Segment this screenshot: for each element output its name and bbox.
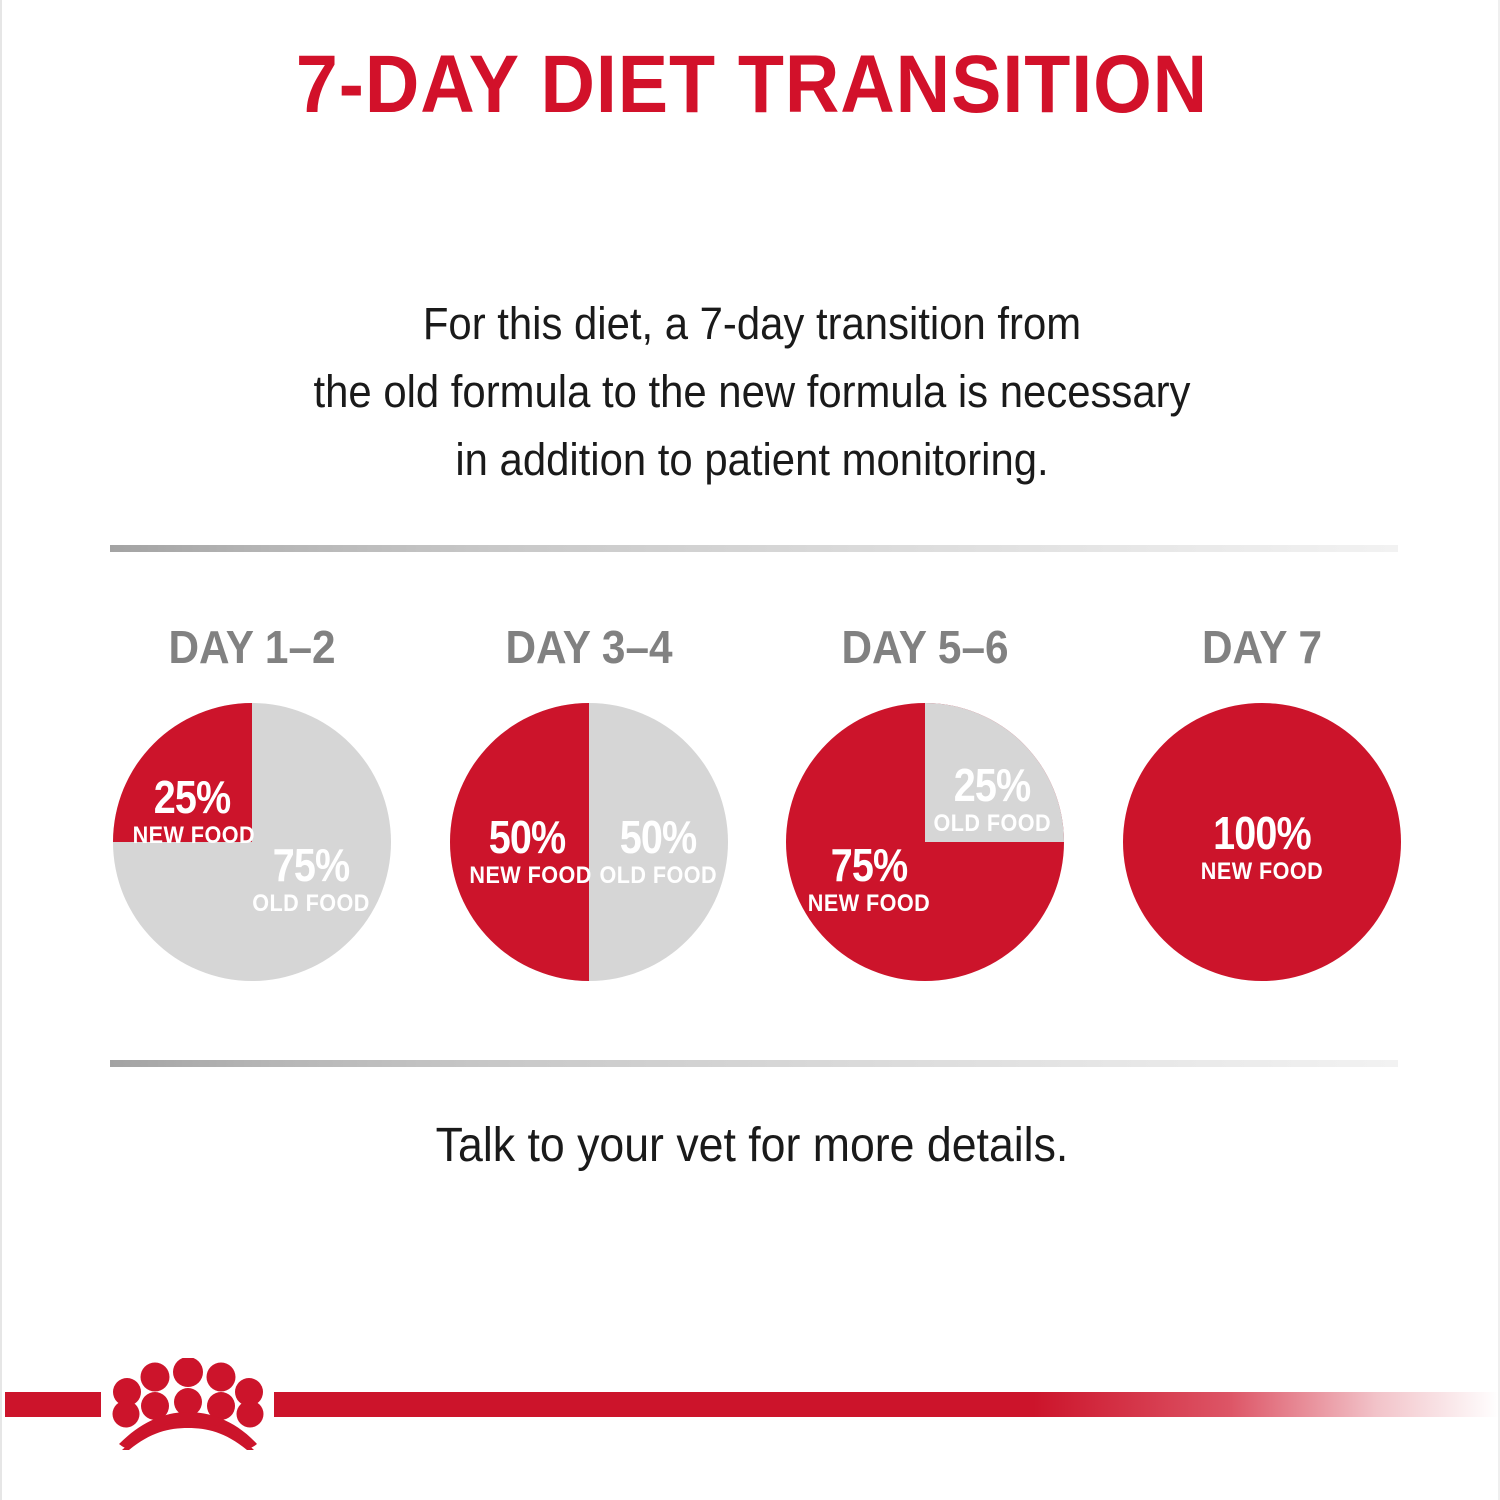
chart-cell-day-3-4: DAY 3–4 50% NEW FOOD 50% OLD FOOD bbox=[439, 620, 739, 982]
day-label-1: DAY 1–2 bbox=[114, 620, 390, 680]
pie-svg-1 bbox=[112, 702, 392, 982]
royal-canin-crown-logo bbox=[105, 1358, 271, 1450]
pie-svg-2 bbox=[449, 702, 729, 982]
intro-line-2: the old formula to the new formula is ne… bbox=[194, 358, 1310, 426]
pie-slice-new-food bbox=[450, 703, 589, 981]
cta-text: Talk to your vet for more details. bbox=[55, 1118, 1450, 1173]
pie-slice-old-food bbox=[925, 703, 1064, 842]
day-label-3: DAY 5–6 bbox=[787, 620, 1063, 680]
page-title: 7-DAY DIET TRANSITION bbox=[62, 38, 1442, 132]
day-label-4: DAY 7 bbox=[1124, 620, 1400, 680]
intro-line-1: For this diet, a 7-day transition from bbox=[194, 290, 1310, 358]
brand-bar-left-segment bbox=[5, 1392, 101, 1417]
pie-slice-new-food bbox=[1123, 703, 1401, 981]
intro-paragraph: For this diet, a 7-day transition from t… bbox=[194, 290, 1310, 494]
divider-bottom bbox=[110, 1060, 1398, 1067]
pie-chart-day-3-4: 50% NEW FOOD 50% OLD FOOD bbox=[449, 702, 729, 982]
chart-cell-day-5-6: DAY 5–6 75% NEW FOOD 25% OLD FOOD bbox=[775, 620, 1075, 982]
infographic-page: 7-DAY DIET TRANSITION For this diet, a 7… bbox=[0, 0, 1500, 1500]
transition-chart-row: DAY 1–2 25% NEW FOOD 75% OLD FOOD DAY 3–… bbox=[102, 620, 1412, 1020]
pie-slice-new-food bbox=[113, 703, 252, 842]
pie-chart-day-5-6: 75% NEW FOOD 25% OLD FOOD bbox=[785, 702, 1065, 982]
divider-top bbox=[110, 545, 1398, 552]
pie-chart-day-1-2: 25% NEW FOOD 75% OLD FOOD bbox=[112, 702, 392, 982]
intro-line-3: in addition to patient monitoring. bbox=[194, 426, 1310, 494]
chart-cell-day-7: DAY 7 100% NEW FOOD bbox=[1112, 620, 1412, 982]
pie-svg-4 bbox=[1122, 702, 1402, 982]
brand-bar-right-segment bbox=[274, 1392, 1499, 1417]
brand-bar bbox=[2, 1374, 1500, 1444]
chart-cell-day-1-2: DAY 1–2 25% NEW FOOD 75% OLD FOOD bbox=[102, 620, 402, 982]
crown-icon bbox=[105, 1358, 271, 1450]
pie-chart-day-7: 100% NEW FOOD bbox=[1122, 702, 1402, 982]
pie-svg-3 bbox=[785, 702, 1065, 982]
day-label-2: DAY 3–4 bbox=[451, 620, 727, 680]
